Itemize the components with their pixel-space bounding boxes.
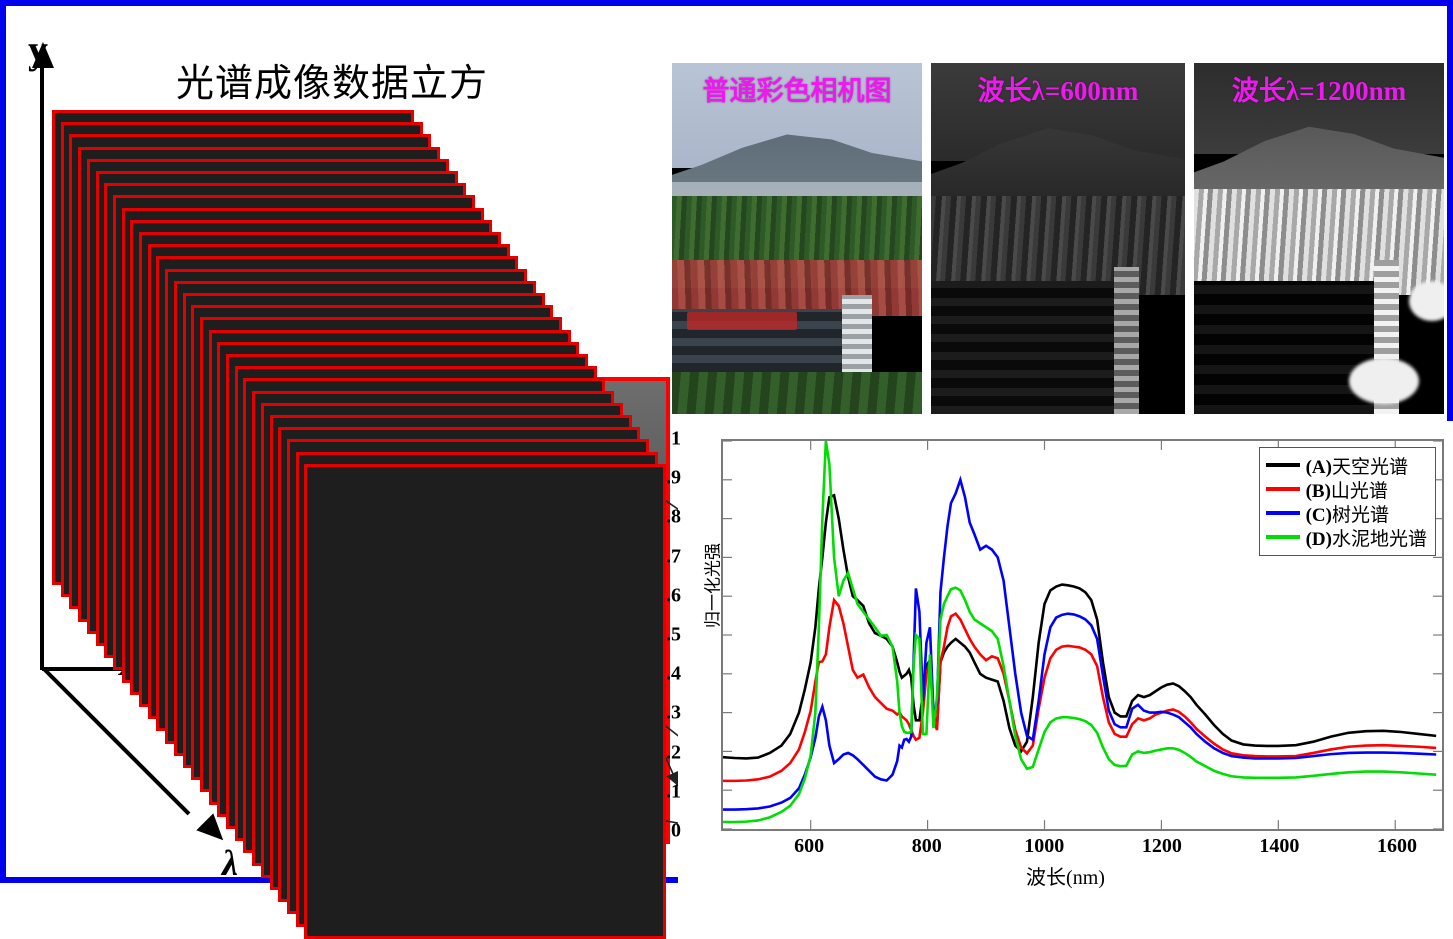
ir600-bright-building <box>1114 267 1139 414</box>
ir1200-vegetation <box>1194 189 1444 294</box>
ir600-main-building <box>931 281 1114 414</box>
legend-label: (D)水泥地光谱 <box>1306 524 1427 551</box>
data-cube-title: 光谱成像数据立方 <box>176 52 488 107</box>
ir1200-main-building <box>1194 281 1374 414</box>
spectral-slice-stack <box>52 110 672 850</box>
legend-label: (A)天空光谱 <box>1306 452 1408 479</box>
spectra-chart-panel: (A)天空光谱(B)山光谱(C)树光谱(D)水泥地光谱 00.10.20.30.… <box>678 421 1453 883</box>
legend-swatch <box>1266 463 1300 467</box>
y-axis-label: y <box>28 26 48 73</box>
x-tick-1400: 1400 <box>1259 835 1299 858</box>
figure-frame: 光谱成像数据立方 y x λ A B <box>0 0 1453 883</box>
x-tick-1600: 1600 <box>1377 835 1417 858</box>
legend-item-1[interactable]: (A)天空光谱 <box>1266 453 1427 477</box>
legend-swatch <box>1266 511 1300 515</box>
photo-rgb-caption: 普通彩色相机图 <box>703 69 892 108</box>
ir1200-tree <box>1409 281 1444 321</box>
data-cube-panel: 光谱成像数据立方 y x λ A B <box>6 6 678 883</box>
photo-1200nm: 波长λ=1200nm <box>1194 63 1444 414</box>
x-tick-800: 800 <box>912 835 942 858</box>
chart-legend[interactable]: (A)天空光谱(B)山光谱(C)树光谱(D)水泥地光谱 <box>1259 447 1436 556</box>
photo-1200nm-caption: 波长λ=1200nm <box>1232 69 1406 108</box>
legend-label: (B)山光谱 <box>1306 476 1388 503</box>
plot-area: (A)天空光谱(B)山光谱(C)树光谱(D)水泥地光谱 <box>721 439 1444 831</box>
y-axis-line <box>40 58 44 670</box>
legend-item-2[interactable]: (B)山光谱 <box>1266 477 1427 501</box>
x-tick-1000: 1000 <box>1024 835 1064 858</box>
photo-600nm-caption: 波长λ=600nm <box>978 69 1139 108</box>
x-axis-title: 波长(nm) <box>678 861 1453 890</box>
y-axis-title: 归一化光强 <box>699 511 724 661</box>
legend-swatch <box>1266 535 1300 539</box>
photo-rgb: 普通彩色相机图 <box>672 63 922 414</box>
legend-label: (C)树光谱 <box>1306 500 1389 527</box>
rgb-red-roofs <box>672 260 922 316</box>
legend-item-3[interactable]: (C)树光谱 <box>1266 501 1427 525</box>
legend-item-4[interactable]: (D)水泥地光谱 <box>1266 525 1427 549</box>
photo-600nm: 波长λ=600nm <box>931 63 1185 414</box>
x-tick-600: 600 <box>794 835 824 858</box>
rgb-foreground-trees <box>672 372 922 414</box>
spectral-slice <box>304 464 666 939</box>
rgb-building-sign <box>687 312 797 330</box>
y-tick-1: 1 <box>671 428 681 451</box>
ir1200-tree <box>1349 358 1419 404</box>
y-tick-0: 0 <box>671 820 681 843</box>
legend-swatch <box>1266 487 1300 491</box>
x-tick-1200: 1200 <box>1142 835 1182 858</box>
